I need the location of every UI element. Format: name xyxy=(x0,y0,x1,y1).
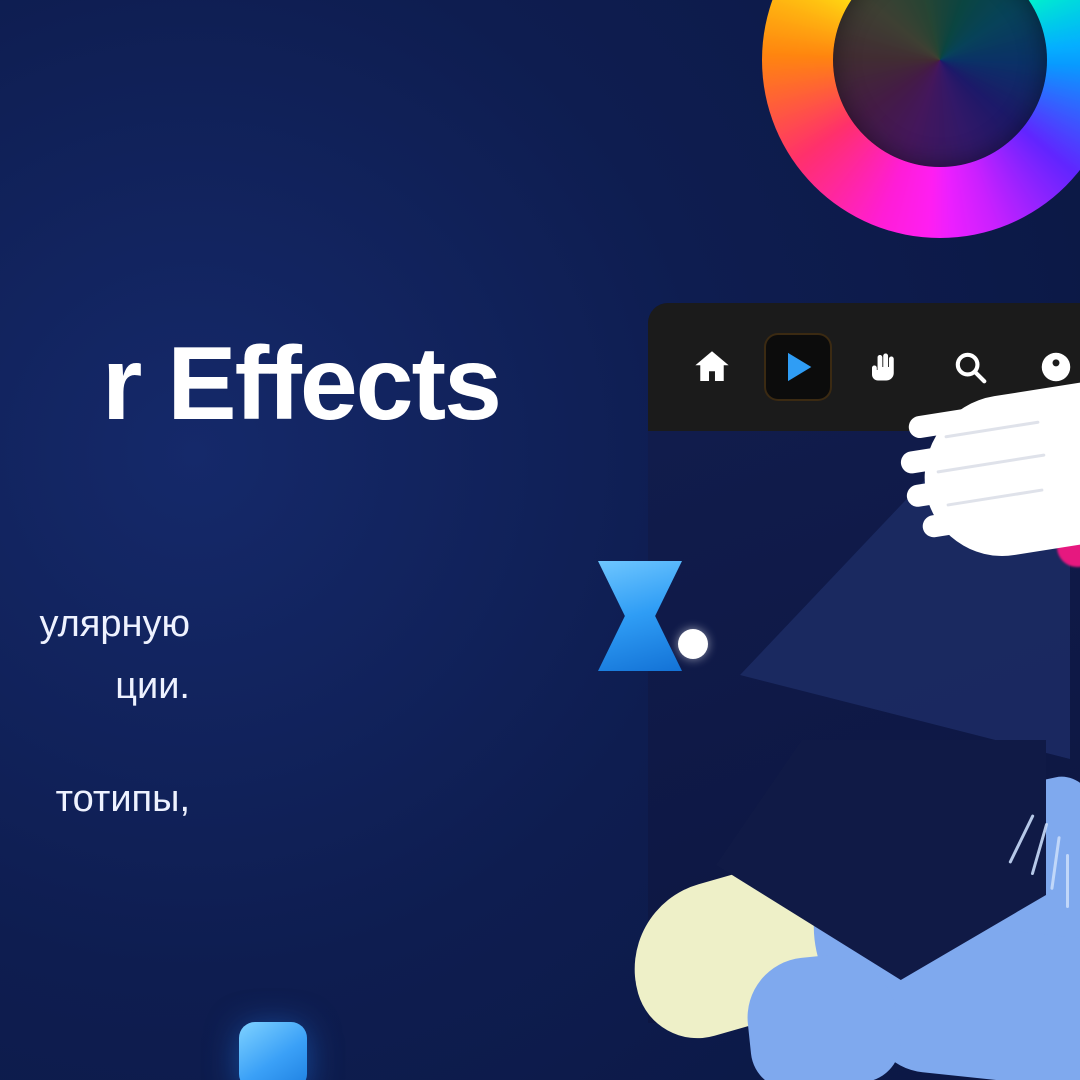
play-icon xyxy=(778,347,818,387)
canvas-dot-large xyxy=(678,629,708,659)
body-line-1: улярную xyxy=(0,594,190,656)
home-icon xyxy=(691,346,733,388)
page-title: r Effects xyxy=(0,330,500,439)
body-line-2: ции. xyxy=(0,656,190,718)
pointing-hand-illustration xyxy=(900,336,1080,576)
mascot-illustration xyxy=(620,760,1080,1080)
body-copy: улярную ции. тотипы, xyxy=(0,594,190,831)
toolbar-button-play[interactable] xyxy=(766,335,830,399)
toolbar-button-home[interactable] xyxy=(680,335,744,399)
blue-rounded-square xyxy=(239,1022,307,1080)
mascot-crease-4 xyxy=(1066,854,1069,908)
hand-icon xyxy=(866,349,902,385)
banner-stage: r Effects улярную ции. тотипы, xyxy=(0,0,1080,1080)
body-line-3: тотипы, xyxy=(0,769,190,831)
color-wheel-icon xyxy=(762,0,1080,238)
